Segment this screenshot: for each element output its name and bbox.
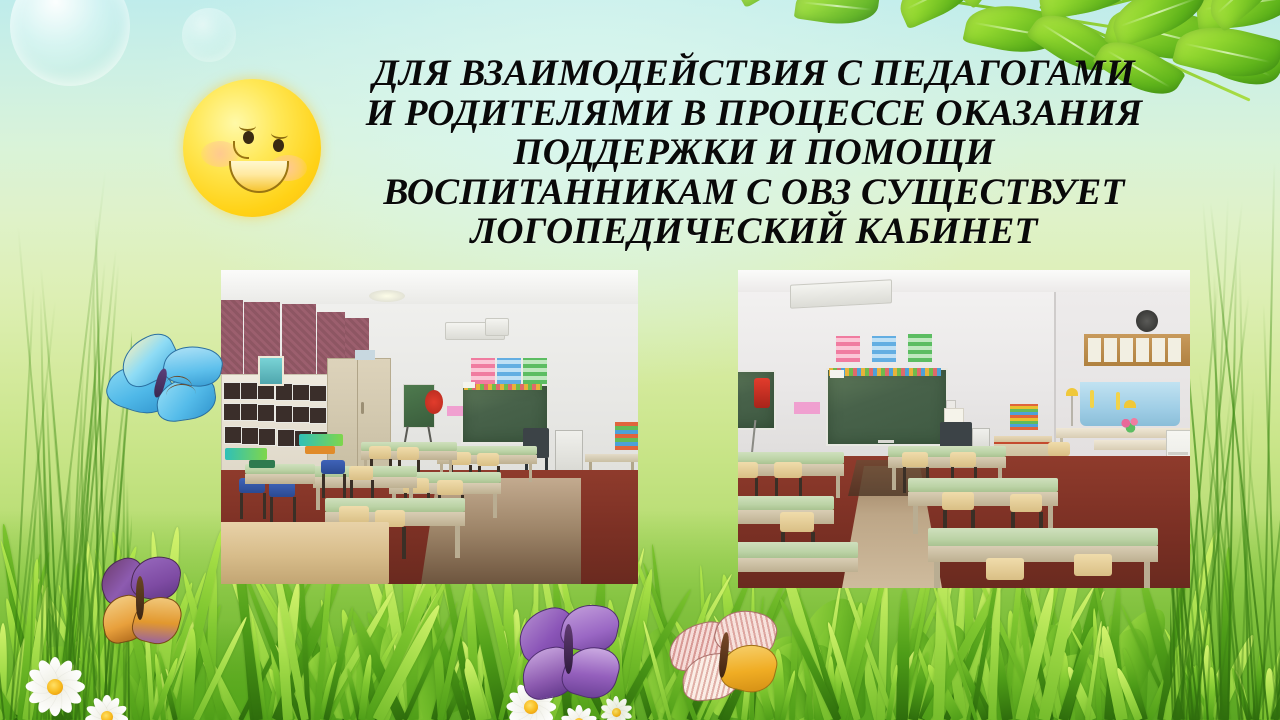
desk — [245, 464, 315, 498]
wood-table — [221, 522, 389, 584]
poster-green — [908, 334, 932, 362]
chair — [950, 452, 976, 467]
tray-teal — [299, 434, 343, 446]
ceiling-lamp — [369, 290, 405, 302]
chair — [902, 452, 928, 467]
red-decor — [425, 390, 443, 414]
purple-orange-butterfly — [98, 556, 184, 652]
desk — [738, 542, 858, 588]
poster-blue — [872, 336, 896, 362]
chair — [1074, 554, 1112, 576]
classroom-photo-left[interactable] — [221, 270, 638, 584]
chair — [1010, 494, 1042, 512]
purple-butterfly — [518, 604, 622, 704]
poster-pink — [836, 336, 860, 362]
chair — [349, 466, 373, 480]
sun-face — [183, 79, 321, 217]
grass-blade — [896, 588, 910, 720]
chair — [437, 480, 463, 495]
poster-pink — [471, 358, 495, 384]
yellow-sparkle — [660, 492, 678, 510]
blue-butterfly — [104, 332, 224, 436]
chair — [780, 512, 814, 532]
wall-card — [794, 402, 820, 414]
flower-vase — [1118, 416, 1144, 434]
chair-blue — [321, 460, 345, 474]
chair — [369, 446, 391, 459]
yellow-sparkle — [692, 508, 718, 534]
tray-teal — [225, 448, 267, 460]
chair — [738, 462, 758, 478]
classroom-photo-right[interactable] — [738, 270, 1190, 588]
chalkboard — [826, 368, 948, 446]
chair — [397, 447, 419, 460]
slide-title: ДЛЯ ВЗАИМОДЕЙСТВИЯ С ПЕДАГОГАМИ И РОДИТЕ… — [316, 54, 1192, 252]
daisy-center — [101, 711, 113, 720]
desk-lamp — [1066, 388, 1078, 396]
slide-canvas: ДЛЯ ВЗАИМОДЕЙСТВИЯ С ПЕДАГОГАМИ И РОДИТЕ… — [0, 0, 1280, 720]
white-daisy — [80, 690, 134, 720]
number-chart — [615, 422, 638, 450]
number-chart — [1010, 404, 1038, 430]
chair — [942, 492, 974, 510]
wall-card — [447, 406, 463, 416]
pink-striped-butterfly — [668, 606, 778, 702]
chair — [477, 453, 499, 466]
chair — [774, 462, 802, 478]
chair — [1048, 442, 1070, 456]
desk — [928, 528, 1158, 588]
soap-bubble — [10, 0, 130, 86]
desk-lamp — [1124, 400, 1136, 408]
red-cloth — [754, 378, 770, 408]
yellow-sparkle — [686, 452, 726, 492]
tray-orange — [305, 446, 335, 454]
poster-blue — [497, 358, 521, 384]
chair — [339, 506, 369, 523]
daisy-center — [612, 708, 621, 717]
framed-picture — [258, 356, 284, 386]
tray-green — [249, 460, 275, 468]
poster-green — [523, 358, 547, 384]
side-table — [585, 454, 638, 462]
chair — [986, 558, 1024, 580]
grass-stroke — [0, 336, 5, 720]
wall-clock — [1136, 310, 1158, 332]
daisy-center — [47, 679, 63, 695]
